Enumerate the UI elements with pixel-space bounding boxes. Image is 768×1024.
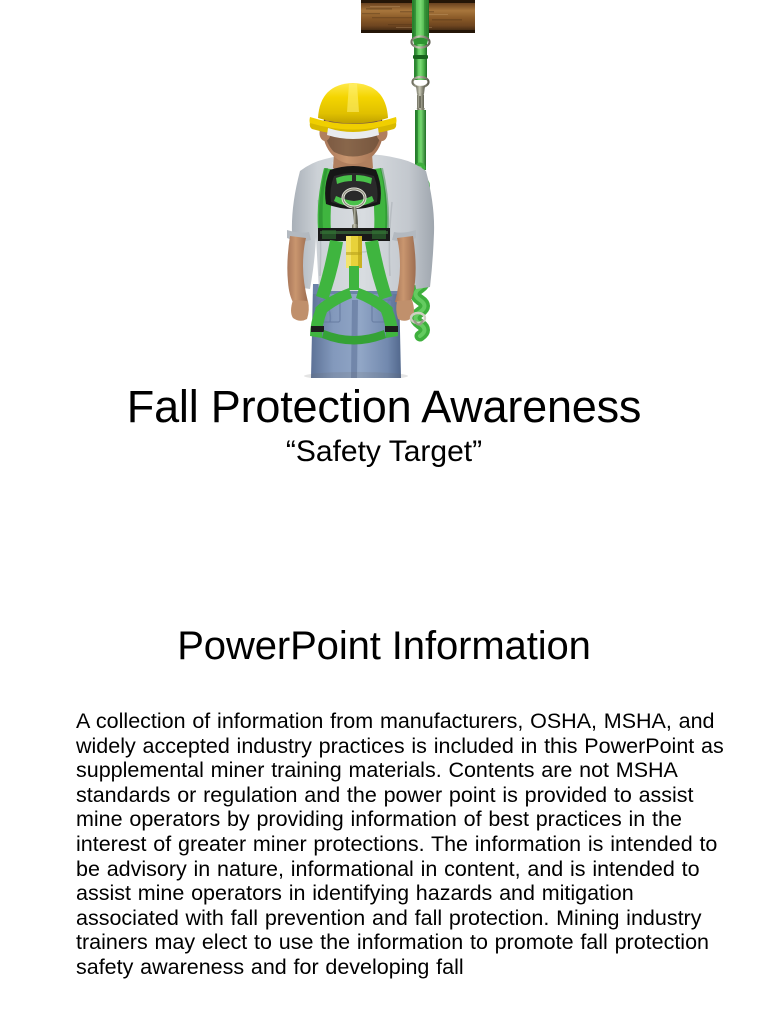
slide-canvas: Fall Protection Awareness “Safety Target…: [0, 0, 768, 1024]
strap-keeper: [413, 55, 428, 59]
body-paragraph: A collection of information from manufac…: [76, 709, 724, 980]
green-anchor-strap: [412, 0, 429, 80]
title-block: Fall Protection Awareness “Safety Target…: [0, 381, 768, 470]
page-subtitle: “Safety Target”: [0, 434, 768, 470]
section-heading-powerpoint-information: PowerPoint Information: [0, 622, 768, 670]
yellow-shock-absorber-pack: [346, 236, 362, 268]
fall-protection-illustration: [0, 0, 768, 378]
page-title: Fall Protection Awareness: [0, 381, 768, 433]
left-hand: [291, 300, 309, 321]
fall-protection-photo: [0, 0, 768, 378]
